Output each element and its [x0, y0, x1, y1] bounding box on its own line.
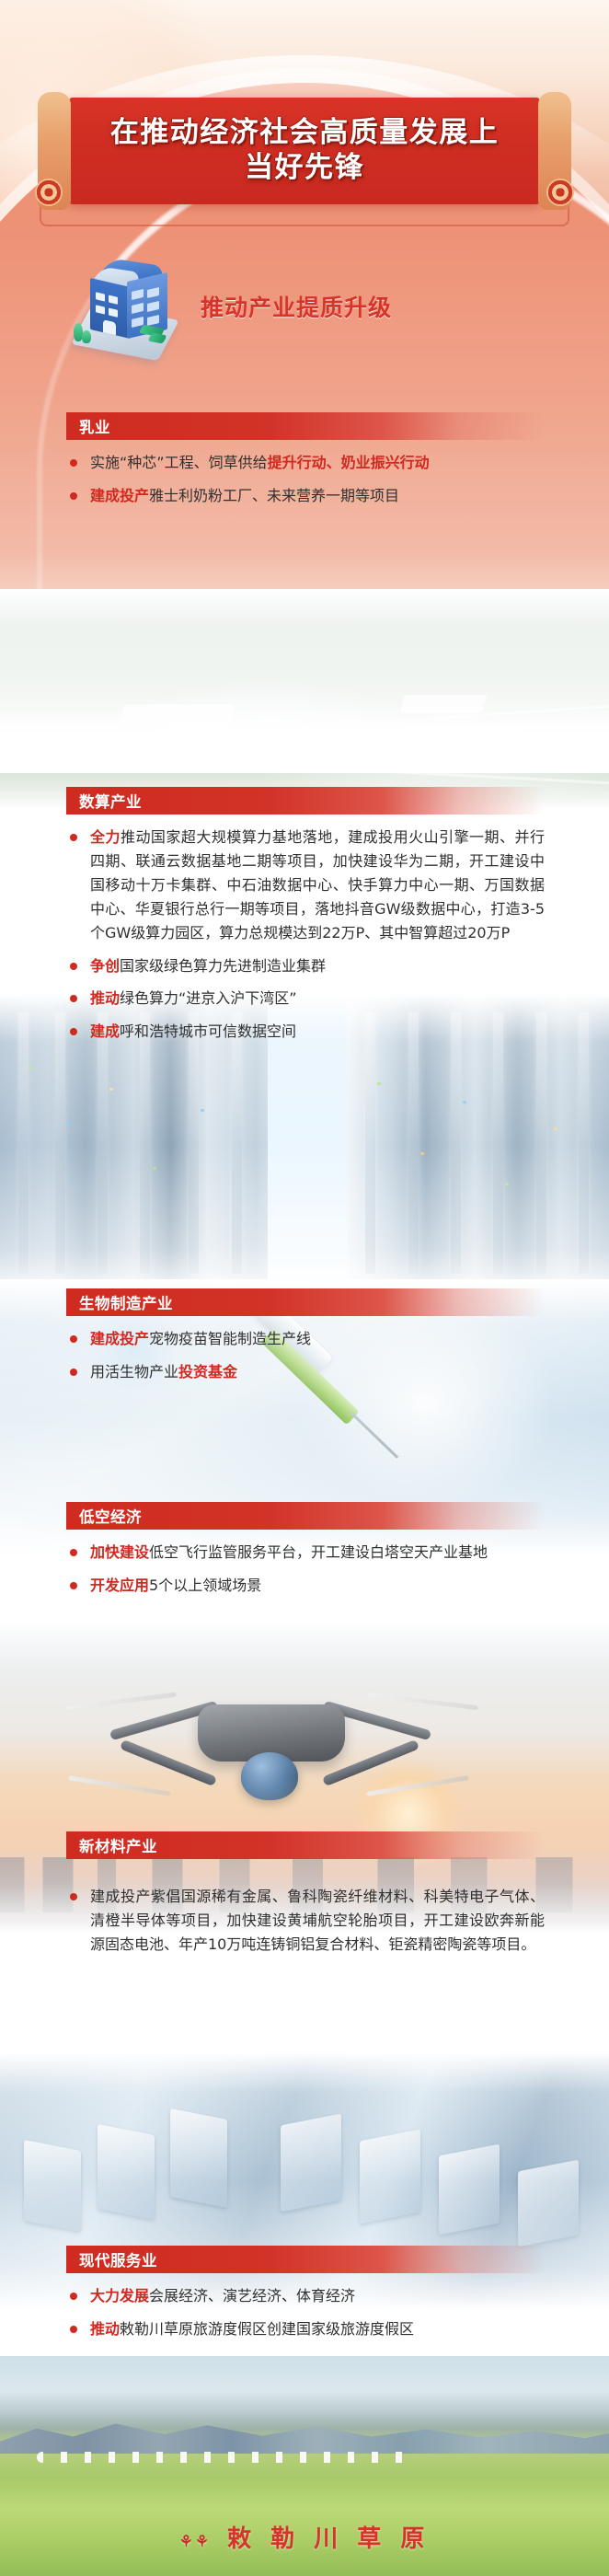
section-title-modern-services: 现代服务业: [79, 2248, 157, 2270]
list-item: 大力发展会展经济、演艺经济、体育经济: [66, 2284, 545, 2308]
bullet-text-highlight: 推动: [90, 989, 120, 1007]
section-new-materials: 新材料产业 建成投产紫倡国源稀有金属、鲁科陶瓷纤维材料、科美特电子气体、清橙半导…: [66, 1831, 545, 1966]
scroll-curl-right-icon: [546, 179, 574, 206]
list-item: 建成呼和浩特城市可信数据空间: [66, 1020, 545, 1044]
section-title-bio-manufacturing: 生物制造产业: [79, 1291, 173, 1313]
list-item: 开发应用5个以上领域场景: [66, 1574, 545, 1598]
lead-title: 推动产业提质升级: [201, 290, 392, 323]
list-item: 争创国家级绿色算力先进制造业集群: [66, 954, 545, 978]
photo-grassland: ⚘⚘ 敕 勒 川 草 原: [0, 2356, 609, 2576]
section-header-dairy: 乳业: [66, 412, 545, 440]
lead-section: 推动产业提质升级: [0, 247, 609, 366]
list-item: 实施“种芯”工程、饲草供给提升行动、奶业振兴行动: [66, 451, 545, 475]
section-modern-services: 现代服务业 大力发展会展经济、演艺经济、体育经济 推动敕勒川草原旅游度假区创建国…: [66, 2246, 545, 2351]
page-title-line-1: 在推动经济社会高质量发展上: [110, 116, 500, 151]
section-bio-manufacturing: 生物制造产业 建成投产宠物疫苗智能制造生产线 用活生物产业投资基金: [66, 1288, 545, 1393]
bullet-text-tail: 推动国家超大规模算力基地落地，建成投用火山引擎一期、并行四期、联通云数据基地二期…: [90, 828, 545, 941]
grassland-logo-decoration: ⚘⚘: [179, 2533, 211, 2554]
section-title-new-materials: 新材料产业: [79, 1834, 157, 1856]
section-title-low-altitude-economy: 低空经济: [79, 1505, 142, 1527]
title-plaque: 在推动经济社会高质量发展上 当好先锋: [69, 98, 540, 204]
bullet-text-tail: 5个以上领域场景: [149, 1577, 261, 1594]
bullet-text-highlight: 加快建设: [90, 1543, 149, 1561]
section-low-altitude-economy: 低空经济 加快建设低空飞行监管服务平台，开工建设白塔空天产业基地 开发应用5个以…: [66, 1502, 545, 1607]
section-dairy: 乳业 实施“种芯”工程、饲草供给提升行动、奶业振兴行动 建成投产雅士利奶粉工厂、…: [66, 412, 545, 517]
section-data-computing: 数算产业 全力推动国家超大规模算力基地落地，建成投用火山引擎一期、并行四期、联通…: [66, 787, 545, 1053]
section-title-dairy: 乳业: [79, 415, 110, 437]
bullet-text-highlight: 建成: [90, 1022, 120, 1040]
bullet-text-plain: 建成投产紫倡国源稀有金属、鲁科陶瓷纤维材料、科美特电子气体、清橙半导体等项目，加…: [90, 1888, 545, 1953]
list-item: 推动敕勒川草原旅游度假区创建国家级旅游度假区: [66, 2317, 545, 2341]
page-title-line-2: 当好先锋: [245, 151, 364, 186]
section-header-modern-services: 现代服务业: [66, 2246, 545, 2273]
bullet-text-highlight: 推动: [90, 2320, 120, 2338]
list-item: 全力推动国家超大规模算力基地落地，建成投用火山引擎一期、并行四期、联通云数据基地…: [66, 826, 545, 945]
scroll-curl-left-icon: [35, 179, 63, 206]
list-item: 用活生物产业投资基金: [66, 1360, 545, 1384]
bullet-text-tail: 呼和浩特城市可信数据空间: [120, 1022, 296, 1040]
bullet-text-plain: 用活生物产业: [90, 1363, 178, 1380]
bullet-text-highlight: 建成投产: [90, 487, 149, 504]
factory-icon: [72, 255, 180, 358]
list-item: 建成投产紫倡国源稀有金属、鲁科陶瓷纤维材料、科美特电子气体、清橙半导体等项目，加…: [66, 1885, 545, 1957]
bullet-text-highlight: 大力发展: [90, 2287, 149, 2305]
bullet-text-highlight: 投资基金: [178, 1363, 237, 1380]
bullet-text-highlight: 提升行动、奶业振兴行动: [268, 454, 430, 471]
grassland-logo: ⚘⚘ 敕 勒 川 草 原: [179, 2520, 431, 2554]
bullet-text-highlight: 建成投产: [90, 1330, 149, 1347]
section-title-data-computing: 数算产业: [79, 790, 142, 812]
list-item: 建成投产宠物疫苗智能制造生产线: [66, 1327, 545, 1351]
bullet-list-data-computing: 全力推动国家超大规模算力基地落地，建成投用火山引擎一期、并行四期、联通云数据基地…: [66, 826, 545, 1044]
bullet-text-tail: 低空飞行监管服务平台，开工建设白塔空天产业基地: [149, 1543, 488, 1561]
section-header-bio-manufacturing: 生物制造产业: [66, 1288, 545, 1316]
grassland-logo-text: 敕 勒 川 草 原: [227, 2520, 430, 2554]
background-fade: [0, 552, 609, 773]
bullet-text-highlight: 全力: [90, 828, 121, 846]
bullet-list-modern-services: 大力发展会展经济、演艺经济、体育经济 推动敕勒川草原旅游度假区创建国家级旅游度假…: [66, 2284, 545, 2341]
section-header-data-computing: 数算产业: [66, 787, 545, 814]
bullet-text-tail: 雅士利奶粉工厂、未来营养一期等项目: [149, 487, 399, 504]
bullet-text-tail: 国家级绿色算力先进制造业集群: [120, 957, 326, 975]
list-item: 建成投产雅士利奶粉工厂、未来营养一期等项目: [66, 484, 545, 508]
bullet-list-bio-manufacturing: 建成投产宠物疫苗智能制造生产线 用活生物产业投资基金: [66, 1327, 545, 1384]
bullet-list-low-altitude-economy: 加快建设低空飞行监管服务平台，开工建设白塔空天产业基地 开发应用5个以上领域场景: [66, 1541, 545, 1598]
bullet-text-highlight: 争创: [90, 957, 120, 975]
bullet-text-highlight: 开发应用: [90, 1577, 149, 1594]
bullet-list-new-materials: 建成投产紫倡国源稀有金属、鲁科陶瓷纤维材料、科美特电子气体、清橙半导体等项目，加…: [66, 1885, 545, 1957]
section-header-low-altitude-economy: 低空经济: [66, 1502, 545, 1530]
bullet-text-tail: 敕勒川草原旅游度假区创建国家级旅游度假区: [120, 2320, 414, 2338]
section-header-new-materials: 新材料产业: [66, 1831, 545, 1859]
bullet-list-dairy: 实施“种芯”工程、饲草供给提升行动、奶业振兴行动 建成投产雅士利奶粉工厂、未来营…: [66, 451, 545, 508]
bullet-text-plain: 实施“种芯”工程、饲草供给: [90, 454, 268, 471]
bullet-text-tail: 宠物疫苗智能制造生产线: [149, 1330, 311, 1347]
bullet-text-tail: 绿色算力“进京入沪下湾区”: [120, 989, 297, 1007]
infographic-poster: ⚘⚘ 敕 勒 川 草 原 在推动经济社会高质量发展上 当好先锋: [0, 0, 609, 2576]
bullet-text-tail: 会展经济、演艺经济、体育经济: [149, 2287, 355, 2305]
title-banner: 在推动经济社会高质量发展上 当好先锋: [0, 92, 609, 228]
list-item: 推动绿色算力“进京入沪下湾区”: [66, 987, 545, 1011]
list-item: 加快建设低空飞行监管服务平台，开工建设白塔空天产业基地: [66, 1541, 545, 1565]
